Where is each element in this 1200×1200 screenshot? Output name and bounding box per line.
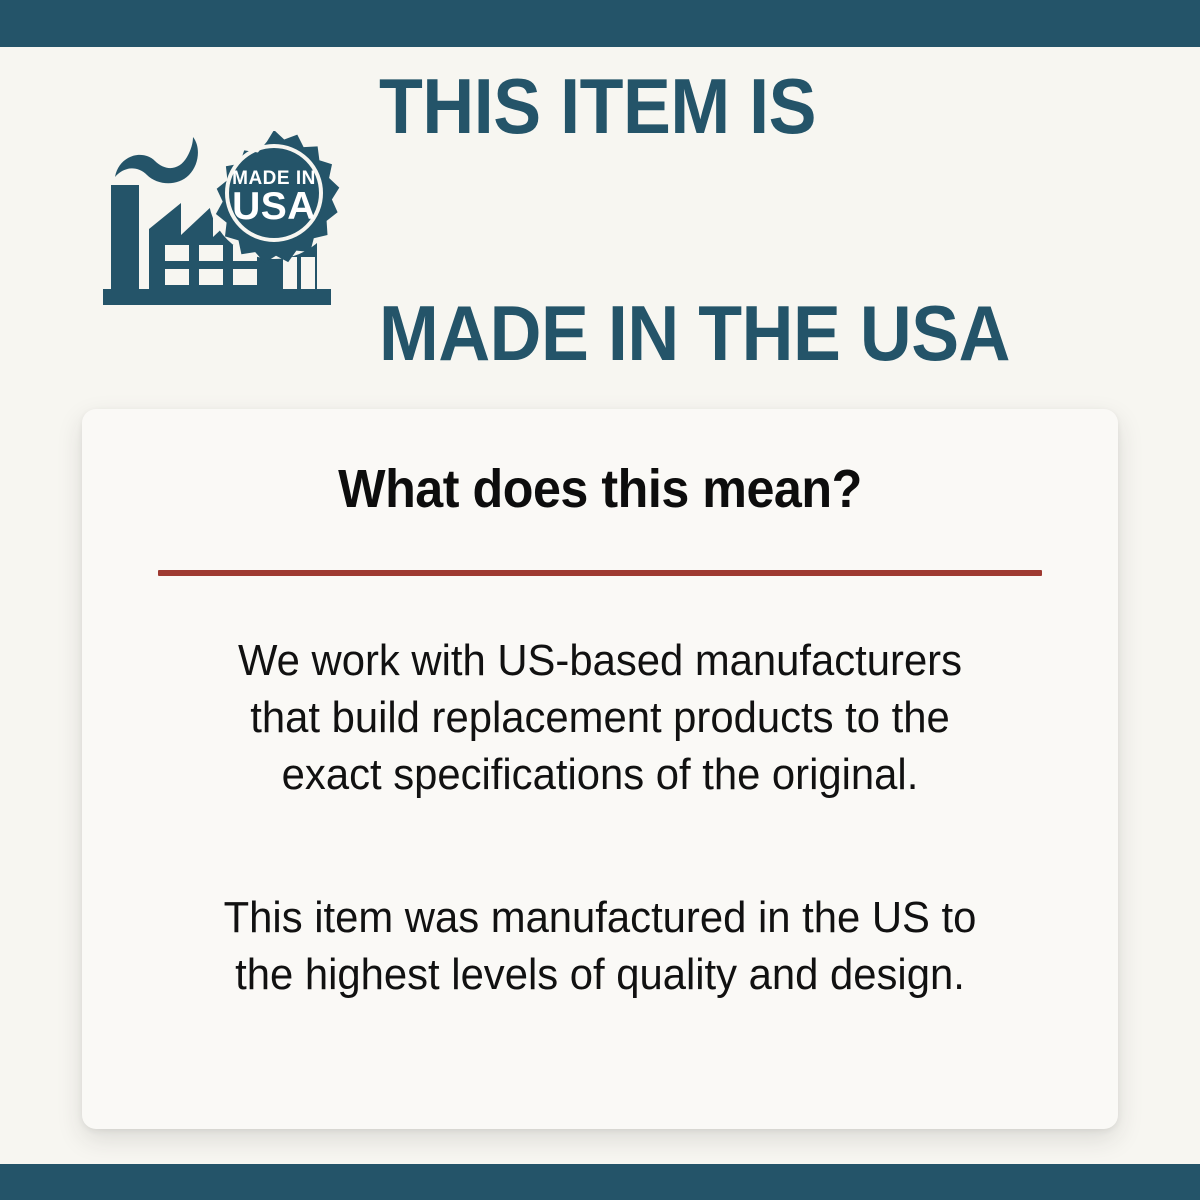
made-in-usa-logo: MADE IN USA [103, 131, 343, 309]
card-paragraph-2: This item was manufactured in the US to … [180, 889, 1020, 1003]
info-card: What does this mean? We work with US-bas… [82, 409, 1118, 1129]
header: MADE IN USA THIS ITEM IS MADE IN THE USA [0, 105, 1200, 335]
page-title-line-1: THIS ITEM IS [379, 69, 1010, 145]
seal-line-2: USA [232, 185, 316, 228]
page-title-line-2: MADE IN THE USA [379, 296, 1010, 372]
card-title: What does this mean? [189, 461, 1011, 518]
card-paragraph-1: We work with US-based manufacturers that… [180, 632, 1020, 804]
bottom-accent-bar [0, 1164, 1200, 1200]
card-divider [158, 570, 1042, 576]
page-canvas: MADE IN USA THIS ITEM IS MADE IN THE USA… [0, 47, 1200, 1164]
factory-icon: MADE IN USA [103, 131, 343, 309]
